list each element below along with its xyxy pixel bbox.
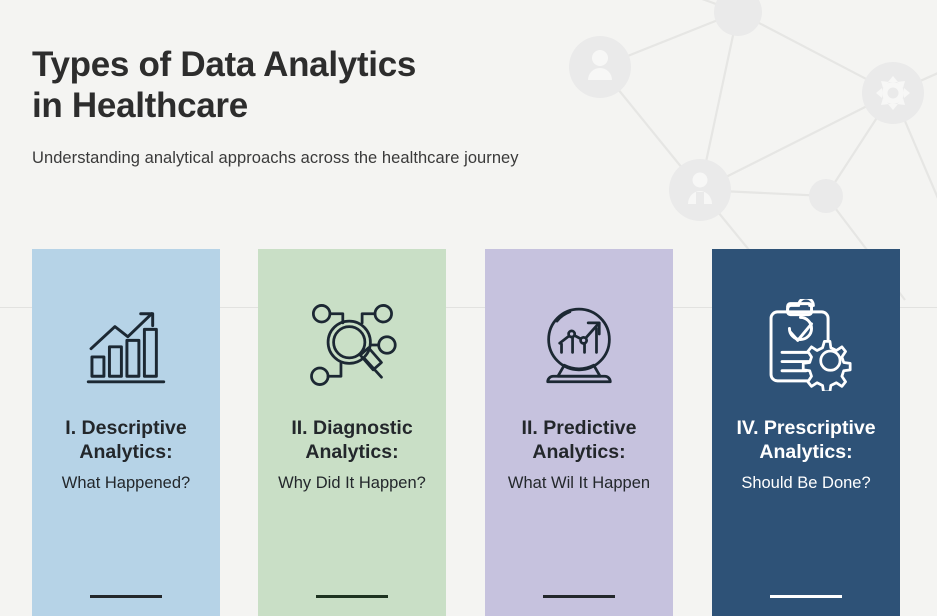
card-text-block: II. Diagnostic Analytics: Why Did It Hap… bbox=[258, 417, 446, 493]
card-divider bbox=[316, 595, 388, 598]
card-question: What Wil It Happen bbox=[491, 474, 667, 494]
card-heading: II. Predictive Analytics: bbox=[491, 417, 667, 465]
card-question: Should Be Done? bbox=[718, 474, 894, 494]
card-heading: IV. Prescriptive Analytics: bbox=[718, 417, 894, 465]
page-subtitle: Understanding analytical approachs acros… bbox=[32, 149, 519, 168]
card-heading: I. Descriptive Analytics: bbox=[38, 417, 214, 465]
doctor-node-icon bbox=[669, 159, 731, 221]
page-title: Types of Data Analytics in Healthcare bbox=[32, 44, 519, 127]
bar-chart-growth-icon bbox=[78, 297, 174, 393]
card-question: What Happened? bbox=[38, 474, 214, 494]
card-divider bbox=[90, 595, 162, 598]
card-descriptive-analytics[interactable]: I. Descriptive Analytics: What Happened? bbox=[32, 249, 220, 616]
card-predictive-analytics[interactable]: II. Predictive Analytics: What Wil It Ha… bbox=[485, 249, 673, 616]
doctor-node-glyph bbox=[688, 173, 712, 205]
card-diagnostic-analytics[interactable]: II. Diagnostic Analytics: Why Did It Hap… bbox=[258, 249, 446, 616]
card-text-block: II. Predictive Analytics: What Wil It Ha… bbox=[485, 417, 673, 493]
page-header: Types of Data Analytics in Healthcare Un… bbox=[32, 44, 519, 168]
analytics-card-row: I. Descriptive Analytics: What Happened? bbox=[0, 249, 937, 616]
card-text-block: I. Descriptive Analytics: What Happened? bbox=[32, 417, 220, 493]
crystal-ball-chart-icon bbox=[531, 297, 627, 393]
clipboard-check-gear-icon bbox=[758, 297, 854, 393]
card-divider bbox=[770, 595, 842, 598]
magnifier-network-icon bbox=[304, 297, 400, 393]
gear-node-glyph bbox=[876, 76, 910, 110]
card-heading: II. Diagnostic Analytics: bbox=[264, 417, 440, 465]
card-text-block: IV. Prescriptive Analytics: Should Be Do… bbox=[712, 417, 900, 493]
card-question: Why Did It Happen? bbox=[264, 474, 440, 494]
card-divider bbox=[543, 595, 615, 598]
card-prescriptive-analytics[interactable]: IV. Prescriptive Analytics: Should Be Do… bbox=[712, 249, 900, 616]
person-node-icon bbox=[569, 36, 631, 98]
person-node-glyph bbox=[588, 50, 612, 80]
gear-node-icon bbox=[862, 62, 924, 124]
